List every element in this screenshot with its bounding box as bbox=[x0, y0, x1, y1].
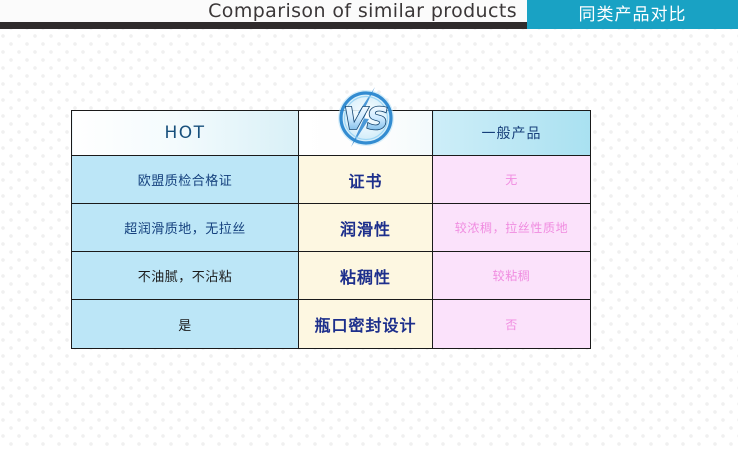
page-title-chinese: 同类产品对比 bbox=[527, 0, 738, 29]
table-cell-feature-0: 证书 bbox=[299, 156, 433, 204]
header-dark-bar bbox=[0, 22, 527, 29]
table-row: 是 瓶口密封设计 否 bbox=[72, 300, 591, 349]
table-header-cell-generic: 一般产品 bbox=[433, 111, 591, 156]
table-row: 欧盟质检合格证 证书 无 bbox=[72, 156, 591, 204]
table-cell-hot-0: 欧盟质检合格证 bbox=[72, 156, 299, 204]
table-row: 不油腻，不沾粘 粘稠性 较粘稠 bbox=[72, 252, 591, 300]
table-cell-generic-2: 较粘稠 bbox=[433, 252, 591, 300]
table-cell-generic-0: 无 bbox=[433, 156, 591, 204]
page-title-english: Comparison of similar products bbox=[0, 0, 517, 22]
table-cell-feature-2: 粘稠性 bbox=[299, 252, 433, 300]
table-cell-generic-1: 较浓稠，拉丝性质地 bbox=[433, 204, 591, 252]
svg-text:VS: VS bbox=[344, 102, 389, 137]
table-cell-hot-1: 超润滑质地，无拉丝 bbox=[72, 204, 299, 252]
table-cell-hot-2: 不油腻，不沾粘 bbox=[72, 252, 299, 300]
header-teal-banner: 同类产品对比 bbox=[527, 0, 738, 29]
header-white-strip: Comparison of similar products bbox=[0, 0, 527, 22]
table-cell-hot-3: 是 bbox=[72, 300, 299, 349]
table-header-cell-hot: HOT bbox=[72, 111, 299, 156]
vs-badge-icon: VS bbox=[331, 83, 401, 153]
table-row: 超润滑质地，无拉丝 润滑性 较浓稠，拉丝性质地 bbox=[72, 204, 591, 252]
page-header: Comparison of similar products 同类产品对比 bbox=[0, 0, 738, 30]
table-cell-feature-1: 润滑性 bbox=[299, 204, 433, 252]
table-cell-generic-3: 否 bbox=[433, 300, 591, 349]
table-cell-feature-3: 瓶口密封设计 bbox=[299, 300, 433, 349]
